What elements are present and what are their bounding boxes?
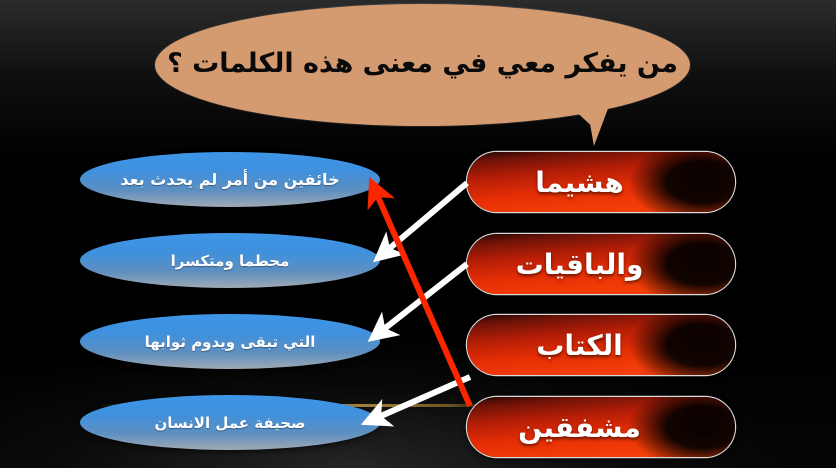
meaning-ellipse-2[interactable]: محطما ومتكسرا	[80, 233, 380, 288]
slide-canvas: من يفكر معي في معنى هذه الكلمات ؟ خائفين…	[0, 0, 836, 468]
meaning-ellipse-4-label: صحيفة عمل الانسان	[154, 414, 305, 432]
meaning-ellipse-1-label: خائفين من أمر لم يحدث بعد	[120, 170, 339, 189]
meaning-ellipse-3[interactable]: التي تبقى ويدوم ثوابها	[80, 314, 380, 369]
term-bar-4-label: مشفقين	[467, 397, 692, 457]
connector-alkitab-to-khaifin	[375, 190, 470, 406]
meaning-ellipse-4[interactable]: صحيفة عمل الانسان	[80, 395, 380, 450]
term-bar-3[interactable]: الكتاب	[467, 315, 735, 375]
speech-bubble: من يفكر معي في معنى هذه الكلمات ؟	[155, 4, 690, 144]
term-bar-1-label: هشيما	[467, 152, 692, 212]
speech-bubble-text: من يفكر معي في معنى هذه الكلمات ؟	[155, 4, 690, 126]
term-bar-4[interactable]: مشفقين	[467, 397, 735, 457]
connector-albaqiyat-to-tabqa	[379, 264, 467, 333]
term-bar-2-label: والباقيات	[467, 234, 692, 294]
term-bar-2[interactable]: والباقيات	[467, 234, 735, 294]
meaning-ellipse-1[interactable]: خائفين من أمر لم يحدث بعد	[80, 152, 380, 207]
connector-hashiman-to-muhattaman	[384, 183, 467, 253]
term-bar-3-label: الكتاب	[467, 315, 692, 375]
meaning-ellipse-3-label: التي تبقى ويدوم ثوابها	[145, 333, 316, 351]
connector-mushfiqin-to-sahifa	[374, 377, 470, 419]
term-bar-1[interactable]: هشيما	[467, 152, 735, 212]
meaning-ellipse-2-label: محطما ومتكسرا	[171, 252, 290, 270]
